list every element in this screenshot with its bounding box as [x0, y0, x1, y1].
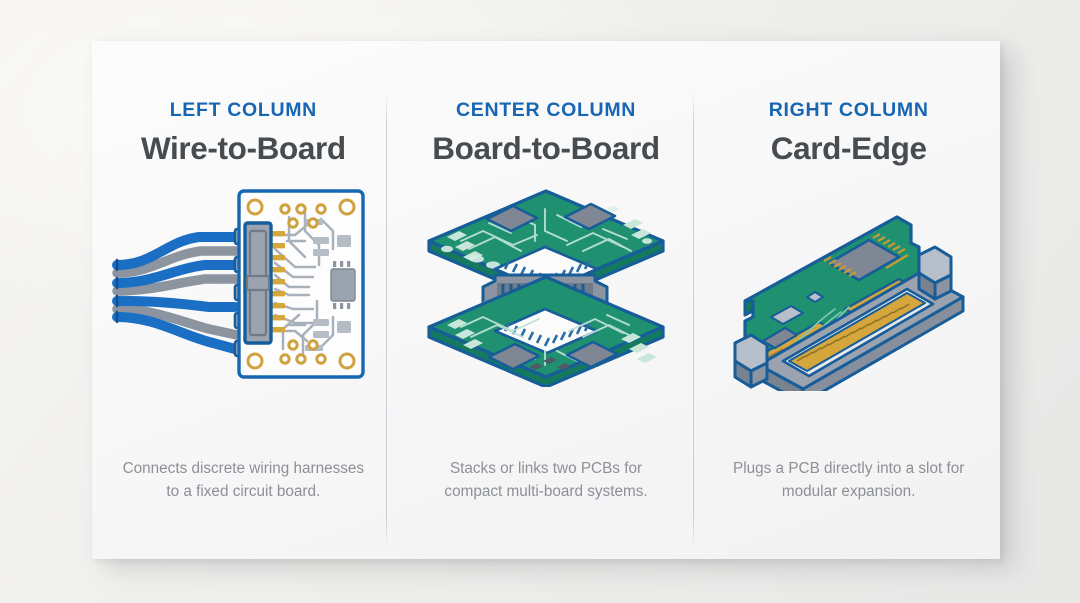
- column-wire-to-board: LEFT COLUMN Wire-to-Board: [92, 41, 395, 559]
- wire-to-board-connector-illustration: [109, 179, 377, 389]
- card-edge-slot-connector-illustration: [723, 179, 975, 391]
- column-container: LEFT COLUMN Wire-to-Board: [92, 41, 1000, 559]
- column-title-center: Board-to-Board: [432, 132, 659, 165]
- column-title-right: Card-Edge: [771, 132, 927, 165]
- board-to-board-stacked-pcb-illustration: [417, 179, 675, 387]
- column-caption-left: Connects discrete wiring harnesses to a …: [92, 458, 395, 503]
- infographic-card: LEFT COLUMN Wire-to-Board: [92, 41, 1000, 559]
- column-caption-right: Plugs a PCB directly into a slot for mod…: [697, 458, 1000, 503]
- column-divider-1: [386, 92, 387, 549]
- column-title-left: Wire-to-Board: [141, 132, 346, 165]
- column-caption-center: Stacks or links two PCBs for compact mul…: [395, 458, 698, 503]
- column-board-to-board: CENTER COLUMN Board-to-Board: [395, 41, 698, 559]
- column-divider-2: [693, 92, 694, 549]
- column-eyebrow-center: CENTER COLUMN: [456, 101, 636, 121]
- column-eyebrow-right: RIGHT COLUMN: [769, 101, 929, 121]
- column-card-edge: RIGHT COLUMN Card-Edge: [697, 41, 1000, 559]
- column-eyebrow-left: LEFT COLUMN: [170, 101, 317, 121]
